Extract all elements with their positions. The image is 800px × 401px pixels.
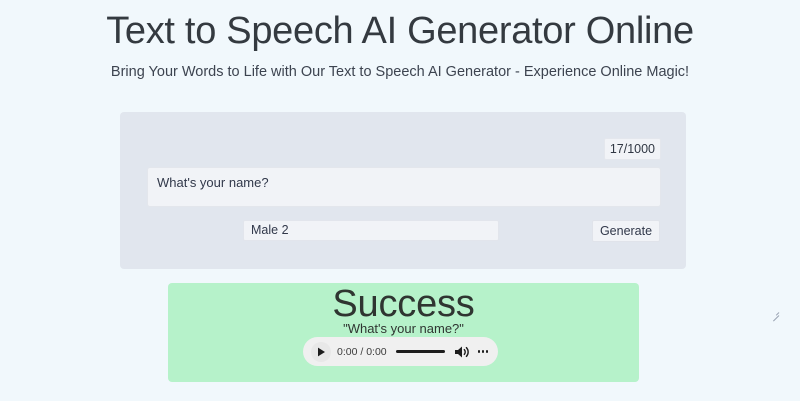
more-options-icon[interactable] — [477, 344, 489, 360]
volume-icon[interactable] — [454, 344, 470, 360]
voice-select[interactable]: Male 2 — [243, 220, 499, 241]
page-title: Text to Speech AI Generator Online — [0, 8, 800, 56]
generator-panel: 17/1000 Male 2 Generate — [120, 112, 686, 269]
spoken-text: "What's your name?" — [168, 322, 639, 336]
page-subtitle: Bring Your Words to Life with Our Text t… — [0, 64, 800, 81]
page-header: Text to Speech AI Generator Online Bring… — [0, 0, 800, 81]
progress-slider[interactable] — [396, 350, 445, 353]
success-title: Success — [168, 283, 639, 325]
character-counter-row: 17/1000 — [604, 138, 661, 160]
text-input[interactable] — [147, 167, 661, 207]
success-panel: Success "What's your name?" 0:00 / 0:00 — [168, 283, 639, 382]
audio-player: 0:00 / 0:00 — [303, 337, 498, 366]
time-display: 0:00 / 0:00 — [337, 346, 387, 358]
character-counter: 17/1000 — [604, 138, 661, 160]
generate-button[interactable]: Generate — [592, 220, 660, 242]
play-icon[interactable] — [311, 342, 331, 362]
textarea-resize-handle[interactable] — [770, 308, 779, 317]
